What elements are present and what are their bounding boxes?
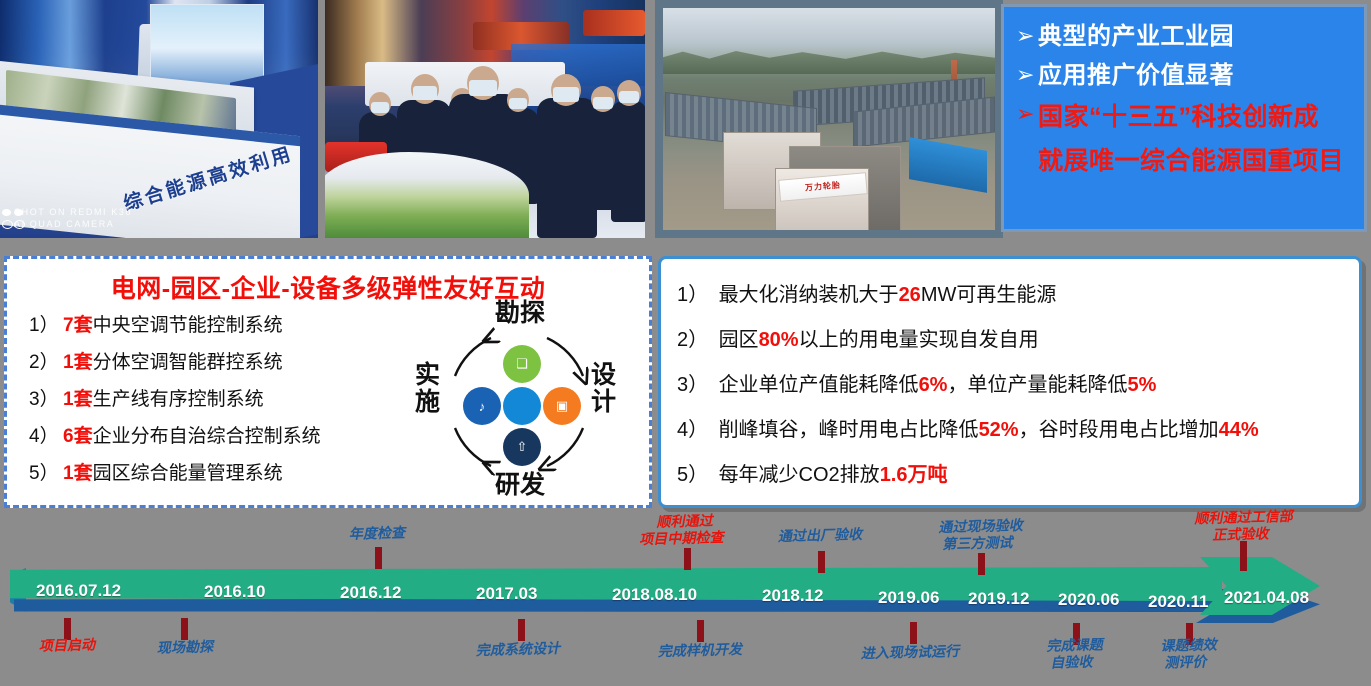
watermark-line-2: AI QUAD CAMERA — [14, 218, 132, 230]
item-value: 6% — [919, 374, 948, 396]
timeline-note-line-2: 自验收 — [1027, 653, 1119, 672]
timeline-date: 2020.11 — [1148, 592, 1209, 612]
led-banner-b — [583, 10, 645, 36]
timeline-tick — [684, 548, 691, 570]
leaders-visit-photo — [325, 0, 645, 238]
list-item: 1）7套中央空调节能控制系统 — [29, 307, 399, 344]
highlight-text-2: 应用推广价值显著 — [1038, 60, 1234, 91]
blue-metal-roof — [909, 137, 987, 193]
lifecycle-diagram: 勘探 设计 研发 实施 ❑ ♪ ▣ ⇧ — [395, 300, 645, 505]
item-text: 每年减少CO2排放 — [719, 464, 880, 486]
timeline-date: 2016.10 — [204, 582, 265, 602]
highlights-blue-panel: ➢ 典型的产业工业园 ➢ 应用推广价值显著 ➢ 国家“十三五”科技创新成 就展唯… — [1001, 4, 1367, 232]
center-node-icon — [503, 387, 541, 425]
timeline-note: 顺利通过工信部 正式验收 — [1179, 507, 1308, 544]
item-text: 中央空调节能控制系统 — [93, 315, 283, 336]
item-text: ，单位产量能耗降低 — [947, 374, 1127, 396]
photo-row: 综合能源高效利用 SHOT ON REDMI K30 AI QUAD CAMER… — [0, 0, 1371, 240]
item-number: 4） — [29, 418, 63, 455]
timeline-note: 进入现场试运行 — [846, 642, 976, 662]
aerial-view-inner: 万力轮胎 — [663, 8, 995, 230]
timeline-note: 完成课题 自验收 — [1027, 636, 1122, 672]
timeline-tick — [181, 618, 188, 640]
item-text: 以上的用电量实现自发自用 — [799, 329, 1039, 351]
timeline-tick — [910, 622, 917, 644]
timeline-tick — [518, 619, 525, 641]
item-value: 52% — [979, 419, 1019, 441]
cycle-label-bottom: 研发 — [495, 472, 545, 499]
list-item: 2）1套分体空调智能群控系统 — [29, 344, 399, 381]
highlight-row-2: ➢ 应用推广价值显著 — [1016, 60, 1354, 91]
navy-node-icon: ⇧ — [503, 428, 541, 466]
timeline-note: 顺利通过 项目中期检查 — [621, 511, 748, 548]
cycle-label-left: 实施 — [415, 362, 441, 416]
timeline-note: 课题绩效 测评价 — [1141, 636, 1236, 672]
timeline-tick — [375, 547, 382, 569]
timeline-date: 2021.04.08 — [1224, 588, 1309, 608]
project-timeline: 2016.07.12 2016.10 2016.12 2017.03 2018.… — [0, 515, 1371, 686]
item-count: 1套 — [63, 463, 93, 484]
timeline-date: 2017.03 — [476, 584, 537, 604]
item-text: 园区 — [719, 329, 759, 351]
highlight-text-3: 国家“十三五”科技创新成 — [1038, 99, 1319, 135]
item-count: 1套 — [63, 389, 93, 410]
list-item: 4）6套企业分布自治综合控制系统 — [29, 418, 399, 455]
timeline-date: 2019.12 — [968, 589, 1029, 609]
item-value: 1.6万吨 — [880, 464, 948, 486]
item-text: ，谷时段用电占比增加 — [1019, 419, 1219, 441]
list-item: 5）1套园区综合能量管理系统 — [29, 455, 399, 492]
blue-node-icon: ♪ — [463, 387, 501, 425]
cycle-label-top: 勘探 — [495, 300, 545, 327]
item-value: 44% — [1219, 419, 1259, 441]
timeline-note-line-2: 第三方测试 — [917, 533, 1041, 553]
item-number: 3） — [677, 363, 713, 408]
timeline-note-line-2: 测评价 — [1141, 653, 1233, 672]
item-text: MW可再生能源 — [921, 284, 1057, 306]
item-number: 1） — [29, 307, 63, 344]
item-text: 园区综合能量管理系统 — [93, 463, 283, 484]
item-text: 削峰填谷，峰时用电占比降低 — [719, 419, 979, 441]
benefits-list: 1） 最大化消纳装机大于26MW可再生能源 2） 园区80%以上的用电量实现自发… — [661, 259, 1359, 498]
item-value: 5% — [1127, 374, 1156, 396]
timeline-date: 2019.06 — [878, 588, 939, 608]
timeline-note-line-2: 正式验收 — [1179, 524, 1305, 544]
systems-list: 1）7套中央空调节能控制系统 2）1套分体空调智能群控系统 3）1套生产线有序控… — [7, 307, 399, 492]
item-text: 分体空调智能群控系统 — [93, 352, 283, 373]
list-item: 2） 园区80%以上的用电量实现自发自用 — [677, 318, 1359, 363]
timeline-note: 通过现场验收 第三方测试 — [917, 516, 1044, 553]
timeline-note: 项目启动 — [30, 636, 106, 655]
item-text: 企业单位产值能耗降低 — [719, 374, 919, 396]
list-item: 5） 每年减少CO2排放1.6万吨 — [677, 453, 1359, 498]
orange-node-icon: ▣ — [543, 387, 581, 425]
list-item: 3） 企业单位产值能耗降低6%，单位产量能耗降低5% — [677, 363, 1359, 408]
timeline-date: 2020.06 — [1058, 590, 1119, 610]
timeline-note: 通过出厂验收 — [766, 526, 876, 546]
timeline-note: 现场勘探 — [148, 638, 224, 657]
timeline-note: 完成系统设计 — [464, 640, 574, 660]
item-number: 5） — [29, 455, 63, 492]
item-count: 7套 — [63, 315, 93, 336]
item-value: 26 — [899, 284, 921, 306]
timeline-date: 2016.12 — [340, 583, 401, 603]
highlight-row-1: ➢ 典型的产业工业园 — [1016, 21, 1354, 52]
camera-watermark-text: SHOT ON REDMI K30 AI QUAD CAMERA — [14, 206, 132, 230]
timeline-date: 2016.07.12 — [36, 581, 121, 601]
item-number: 2） — [677, 318, 713, 363]
item-value: 80% — [759, 329, 799, 351]
item-count: 6套 — [63, 426, 93, 447]
timeline-note-line-1: 顺利通过工信部 — [1182, 507, 1308, 527]
arrow-bullet-icon: ➢ — [1016, 21, 1038, 51]
timeline-date: 2018.08.10 — [612, 585, 697, 605]
timeline-tick — [697, 620, 704, 642]
timeline-date: 2018.12 — [762, 586, 823, 606]
cycle-label-right: 设计 — [591, 362, 617, 416]
item-text: 生产线有序控制系统 — [93, 389, 264, 410]
green-node-icon: ❑ — [503, 345, 541, 383]
watermark-line-1: SHOT ON REDMI K30 — [14, 206, 132, 218]
timeline-tick — [1240, 541, 1247, 571]
industrial-park-aerial-photo: 万力轮胎 — [655, 0, 1003, 238]
list-item: 3）1套生产线有序控制系统 — [29, 381, 399, 418]
item-number: 1） — [677, 273, 713, 318]
list-item: 1） 最大化消纳装机大于26MW可再生能源 — [677, 273, 1359, 318]
highlight-row-4: 就展唯一综合能源国重项目 — [1038, 143, 1354, 179]
item-number: 2） — [29, 344, 63, 381]
item-count: 1套 — [63, 352, 93, 373]
timeline-note-line-2: 项目中期检查 — [621, 528, 745, 548]
highlight-row-3: ➢ 国家“十三五”科技创新成 — [1016, 99, 1354, 135]
item-text: 最大化消纳装机大于 — [719, 284, 899, 306]
benefits-panel: 1） 最大化消纳装机大于26MW可再生能源 2） 园区80%以上的用电量实现自发… — [658, 256, 1362, 508]
item-number: 5） — [677, 453, 713, 498]
item-number: 3） — [29, 381, 63, 418]
timeline-note: 年度检查 — [340, 524, 416, 543]
arrow-bullet-icon: ➢ — [1016, 60, 1038, 90]
exhibition-booth-photo: 综合能源高效利用 SHOT ON REDMI K30 AI QUAD CAMER… — [0, 0, 318, 238]
list-item: 4） 削峰填谷，峰时用电占比降低52%，谷时段用电占比增加44% — [677, 408, 1359, 453]
arrow-bullet-icon-red: ➢ — [1016, 99, 1038, 129]
item-text: 企业分布自治综合控制系统 — [93, 426, 321, 447]
item-number: 4） — [677, 408, 713, 453]
timeline-tick — [978, 553, 985, 575]
timeline-note: 完成样机开发 — [646, 641, 756, 661]
timeline-tick — [818, 551, 825, 573]
highlight-text-4: 就展唯一综合能源国重项目 — [1038, 143, 1344, 179]
highlight-text-1: 典型的产业工业园 — [1038, 21, 1234, 52]
